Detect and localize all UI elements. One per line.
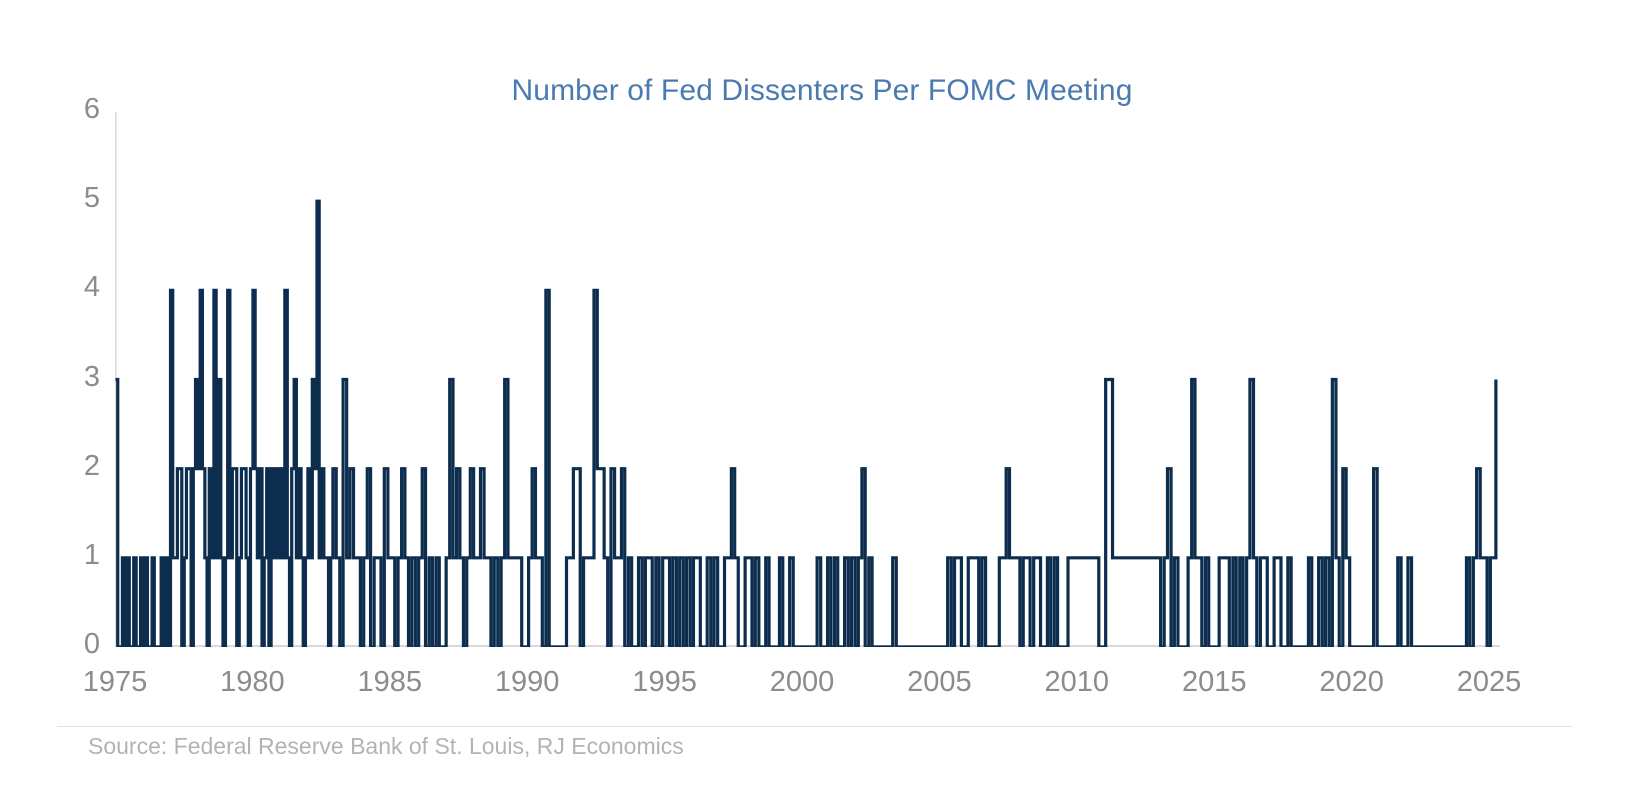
- x-tick-label: 1980: [182, 666, 322, 699]
- y-tick-label: 0: [48, 628, 100, 661]
- x-tick-label: 1990: [457, 666, 597, 699]
- y-tick-label: 6: [48, 93, 100, 126]
- footnote-divider: [57, 726, 1572, 727]
- y-tick-label: 2: [48, 450, 100, 483]
- x-tick-label: 1995: [595, 666, 735, 699]
- x-tick-label: 1985: [320, 666, 460, 699]
- y-tick-label: 1: [48, 539, 100, 572]
- x-tick-label: 2025: [1419, 666, 1559, 699]
- x-tick-label: 2000: [732, 666, 872, 699]
- chart-figure: Number of Fed Dissenters Per FOMC Meetin…: [0, 0, 1644, 806]
- y-tick-label: 5: [48, 182, 100, 215]
- source-note: Source: Federal Reserve Bank of St. Loui…: [88, 733, 684, 760]
- x-tick-label: 2010: [1007, 666, 1147, 699]
- x-tick-label: 2005: [869, 666, 1009, 699]
- y-tick-label: 4: [48, 271, 100, 304]
- y-tick-label: 3: [48, 361, 100, 394]
- x-tick-label: 2020: [1282, 666, 1422, 699]
- x-tick-label: 2015: [1144, 666, 1284, 699]
- x-tick-label: 1975: [45, 666, 185, 699]
